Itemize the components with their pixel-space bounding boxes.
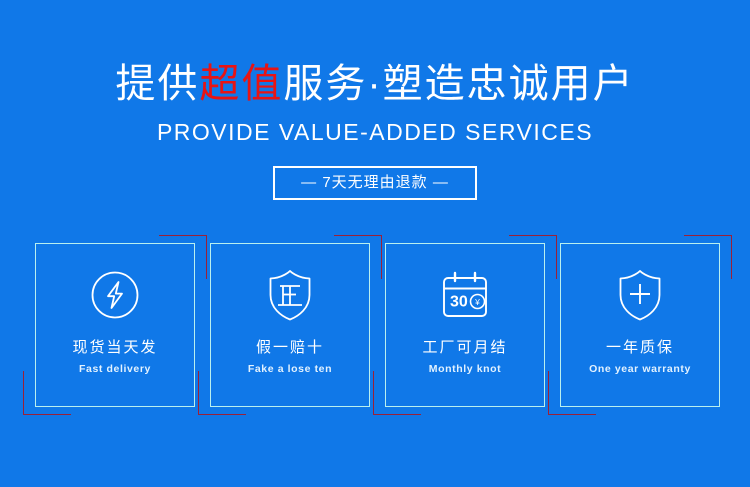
badge-container: — 7天无理由退款 —: [0, 166, 750, 200]
feature-card-fast-delivery: 现货当天发 Fast delivery: [35, 243, 195, 407]
feature-label-cn: 现货当天发: [72, 340, 157, 355]
feature-label-cn: 一年质保: [606, 340, 674, 355]
svg-text:30: 30: [450, 294, 468, 311]
feature-label-en: Monthly knot: [429, 364, 502, 375]
feature-card-monthly-settlement: 30 ¥ 工厂可月结 Monthly knot: [385, 243, 545, 407]
svg-text:¥: ¥: [474, 297, 480, 307]
feature-card-warranty: 一年质保 One year warranty: [560, 243, 720, 407]
shield-plus-icon: [613, 268, 667, 322]
shield-zheng-icon: [263, 268, 317, 322]
feature-label-cn: 假一赔十: [256, 340, 324, 355]
page-subtitle: PROVIDE VALUE-ADDED SERVICES: [0, 121, 750, 144]
banner-header: 提供超值服务·塑造忠诚用户 PROVIDE VALUE-ADDED SERVIC…: [0, 0, 750, 200]
promo-banner: 提供超值服务·塑造忠诚用户 PROVIDE VALUE-ADDED SERVIC…: [0, 0, 750, 487]
calendar-30-yuan-icon: 30 ¥: [436, 268, 494, 322]
title-segment-after: 服务·塑造忠诚用户: [283, 62, 634, 106]
refund-policy-badge: — 7天无理由退款 —: [273, 166, 477, 200]
feature-label-en: Fast delivery: [79, 364, 151, 375]
feature-card-authenticity: 假一赔十 Fake a lose ten: [210, 243, 370, 407]
feature-card-row: 现货当天发 Fast delivery: [0, 243, 750, 415]
page-title: 提供超值服务·塑造忠诚用户: [0, 64, 750, 104]
feature-label-cn: 工厂可月结: [422, 340, 507, 355]
title-segment-before: 提供: [115, 62, 199, 106]
feature-label-en: One year warranty: [589, 364, 691, 375]
title-segment-highlight: 超值: [199, 62, 283, 106]
lightning-bolt-in-circle-icon: [88, 268, 142, 322]
feature-label-en: Fake a lose ten: [248, 364, 332, 375]
